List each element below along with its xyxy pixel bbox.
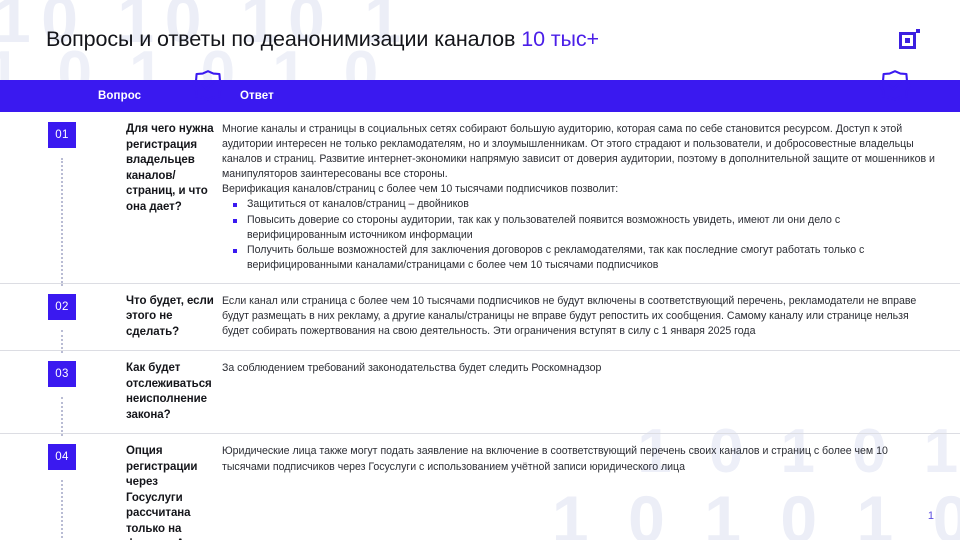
row-number-cell: 03 (0, 361, 76, 423)
logo-inner-square (905, 38, 910, 43)
question-text: Что будет, если этого не сделать? (126, 294, 216, 341)
answer-text: Многие каналы и страницы в социальных се… (222, 122, 938, 197)
faq-table-body: 01Для чего нужна регистрация владельцев … (0, 112, 960, 540)
page-number: 1 (928, 510, 934, 522)
row-number-badge: 04 (48, 444, 76, 470)
answer-paragraph: Если канал или страница с более чем 10 т… (222, 294, 938, 339)
logo-accent-dot (916, 29, 920, 33)
row-number-badge: 02 (48, 294, 76, 320)
answer-bullet-item: Получить больше возможностей для заключе… (222, 243, 938, 273)
timeline-dotted-connector (61, 330, 63, 354)
answer-text: Юридические лица также могут подать заяв… (222, 444, 938, 474)
table-row: 04Опция регистрации через Госуслуги расс… (0, 434, 960, 540)
row-number-badge: 01 (48, 122, 76, 148)
question-cell: Для чего нужна регистрация владельцев ка… (76, 122, 222, 273)
answer-text: Если канал или страница с более чем 10 т… (222, 294, 938, 339)
column-header-question: Вопрос (98, 90, 240, 102)
row-number-cell: 04 (0, 444, 76, 540)
column-header-answer: Ответ (240, 90, 274, 102)
question-text: Как будет отслеживаться неисполнение зак… (126, 361, 216, 423)
answer-bullet-list: Защититься от каналов/страниц – двойнико… (222, 197, 938, 272)
answer-bullet-item: Повысить доверие со стороны аудитории, т… (222, 213, 938, 243)
page-title-accent: 10 тыс+ (521, 27, 599, 51)
page-title-main: Вопросы и ответы по деанонимизации канал… (46, 27, 521, 51)
question-text: Опция регистрации через Госуслуги рассчи… (126, 444, 216, 540)
answer-text: За соблюдением требований законодательст… (222, 361, 938, 376)
table-row: 02Что будет, если этого не сделать?Если … (0, 284, 960, 352)
question-text: Для чего нужна регистрация владельцев ка… (126, 122, 216, 215)
question-cell: Что будет, если этого не сделать? (76, 294, 222, 341)
answer-bullet-item: Защититься от каналов/страниц – двойнико… (222, 197, 938, 212)
answer-cell: Юридические лица также могут подать заяв… (222, 444, 938, 540)
answer-cell: За соблюдением требований законодательст… (222, 361, 938, 423)
answer-paragraph: Многие каналы и страницы в социальных се… (222, 122, 938, 182)
timeline-dotted-connector (61, 397, 63, 436)
answer-cell: Если канал или страница с более чем 10 т… (222, 294, 938, 341)
page-title: Вопросы и ответы по деанонимизации канал… (46, 27, 599, 52)
slide-header: Вопросы и ответы по деанонимизации канал… (0, 0, 960, 78)
answer-paragraph: Верификация каналов/страниц с более чем … (222, 182, 938, 197)
table-header-bar: Вопрос Ответ (0, 80, 960, 112)
row-number-cell: 01 (0, 122, 76, 273)
row-number-badge: 03 (48, 361, 76, 387)
answer-paragraph: За соблюдением требований законодательст… (222, 361, 938, 376)
answer-cell: Многие каналы и страницы в социальных се… (222, 122, 938, 273)
timeline-dotted-connector (61, 480, 63, 540)
question-cell: Опция регистрации через Госуслуги рассчи… (76, 444, 222, 540)
table-row: 03Как будет отслеживаться неисполнение з… (0, 351, 960, 434)
answer-paragraph: Юридические лица также могут подать заяв… (222, 444, 938, 474)
timeline-dotted-connector (61, 158, 63, 286)
row-number-cell: 02 (0, 294, 76, 341)
brand-square-logo-icon (899, 29, 920, 50)
question-cell: Как будет отслеживаться неисполнение зак… (76, 361, 222, 423)
table-row: 01Для чего нужна регистрация владельцев … (0, 112, 960, 284)
